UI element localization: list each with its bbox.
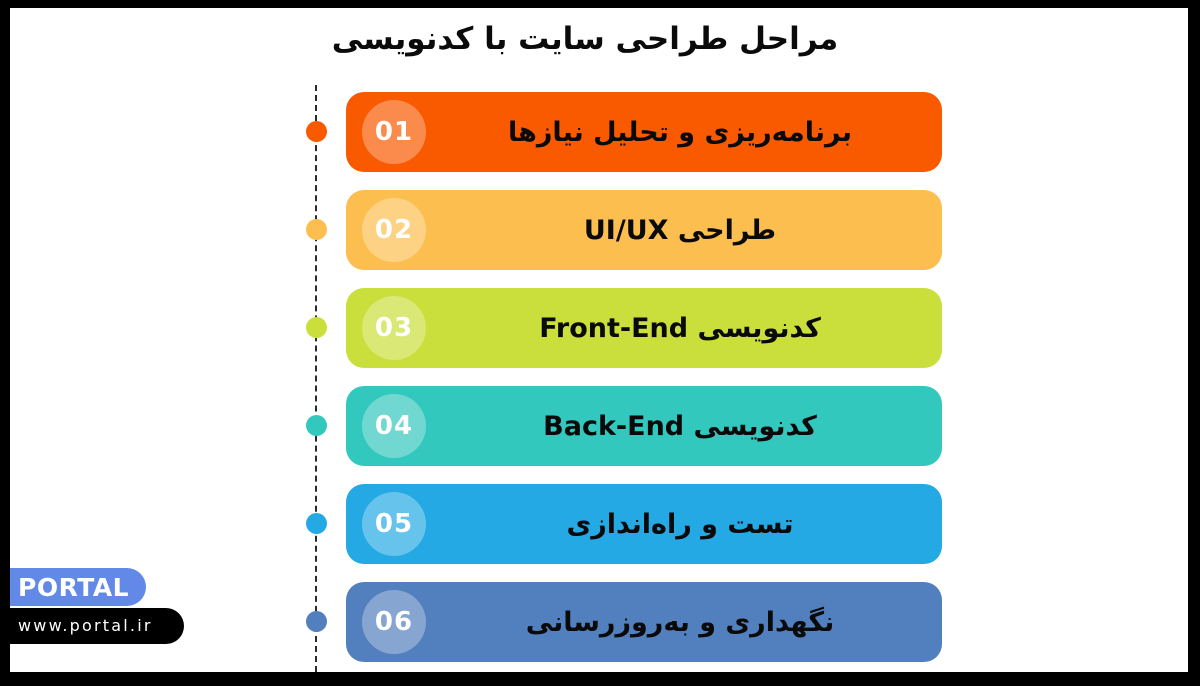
image-frame: مراحل طراحی سایت با کدنویسی 01برنامه‌ریز… [0, 0, 1200, 686]
step-bar[interactable]: 03کدنویسی Front-End [346, 288, 942, 368]
watermark-url-text: www.portal.ir [18, 618, 153, 634]
step-number-text: 05 [375, 511, 413, 537]
step-number-badge: 02 [362, 198, 426, 262]
timeline-dot [306, 317, 327, 338]
step-row: 03کدنویسی Front-End [10, 284, 1188, 382]
step-number-badge: 06 [362, 590, 426, 654]
step-number-text: 01 [375, 119, 413, 145]
step-bar[interactable]: 05تست و راه‌اندازی [346, 484, 942, 564]
step-bar[interactable]: 01برنامه‌ریزی و تحلیل نیازها [346, 92, 942, 172]
timeline-dot [306, 513, 327, 534]
step-label: طراحی UI/UX [442, 190, 918, 270]
step-number-badge: 04 [362, 394, 426, 458]
watermark-brand-badge: PORTAL [10, 568, 146, 606]
step-bar[interactable]: 06نگهداری و به‌روزرسانی [346, 582, 942, 662]
step-row: 05تست و راه‌اندازی [10, 480, 1188, 578]
timeline-dot [306, 611, 327, 632]
step-number-badge: 03 [362, 296, 426, 360]
step-row: 04کدنویسی Back-End [10, 382, 1188, 480]
step-number-badge: 05 [362, 492, 426, 556]
step-number-text: 03 [375, 315, 413, 341]
watermark: PORTAL www.portal.ir [10, 568, 200, 650]
timeline-dot [306, 219, 327, 240]
step-number-badge: 01 [362, 100, 426, 164]
step-bar[interactable]: 02طراحی UI/UX [346, 190, 942, 270]
step-row: 02طراحی UI/UX [10, 186, 1188, 284]
step-bar[interactable]: 04کدنویسی Back-End [346, 386, 942, 466]
step-label: تست و راه‌اندازی [442, 484, 918, 564]
step-label: نگهداری و به‌روزرسانی [442, 582, 918, 662]
step-row: 01برنامه‌ریزی و تحلیل نیازها [10, 88, 1188, 186]
step-label: کدنویسی Front-End [442, 288, 918, 368]
step-label: برنامه‌ریزی و تحلیل نیازها [442, 92, 918, 172]
step-number-text: 06 [375, 609, 413, 635]
step-number-text: 02 [375, 217, 413, 243]
page-title-text: مراحل طراحی سایت با کدنویسی [332, 24, 867, 55]
watermark-url-badge: www.portal.ir [10, 608, 184, 644]
timeline-dot [306, 415, 327, 436]
timeline-dot [306, 121, 327, 142]
watermark-brand-text: PORTAL [18, 575, 129, 600]
page-title: مراحل طراحی سایت با کدنویسی [10, 8, 1188, 70]
step-label: کدنویسی Back-End [442, 386, 918, 466]
step-number-text: 04 [375, 413, 413, 439]
infographic-canvas: مراحل طراحی سایت با کدنویسی 01برنامه‌ریز… [10, 8, 1188, 672]
